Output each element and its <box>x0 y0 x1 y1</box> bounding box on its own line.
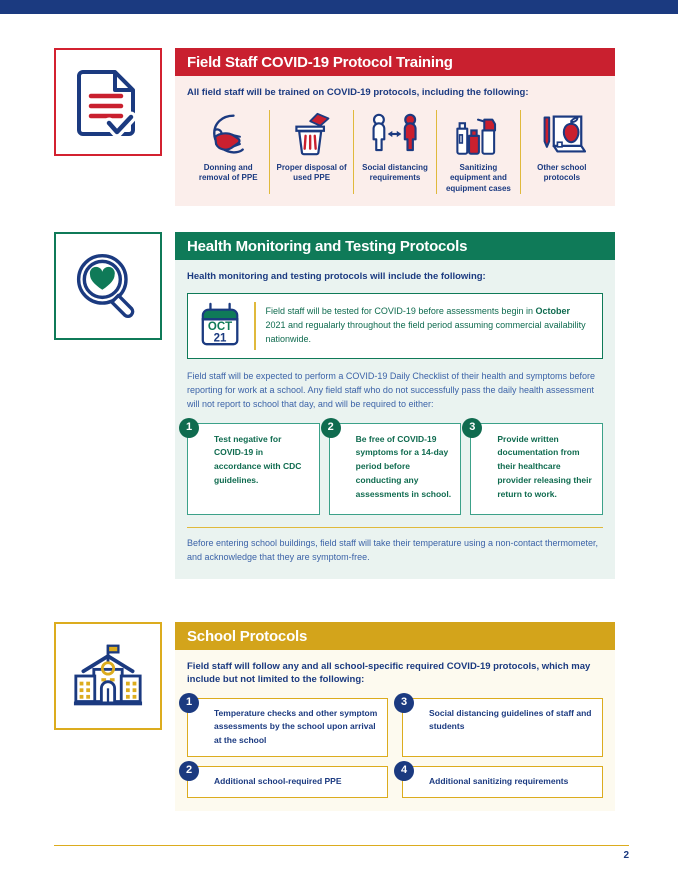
section-field-staff-covid-19-protocol-training: Field Staff COVID-19 Protocol Training A… <box>175 48 615 206</box>
calendar-day-label: 21 <box>214 332 227 344</box>
school-book-apple-icon <box>523 110 601 156</box>
page-top-bar <box>0 0 678 14</box>
school-protocol-box: 1 Temperature checks and other symptom a… <box>187 698 388 757</box>
heart-magnifier-icon <box>72 250 144 322</box>
section-divider <box>187 527 603 528</box>
trash-disposal-icon <box>272 110 350 156</box>
section-title: Field Staff COVID-19 Protocol Training <box>187 55 453 70</box>
school-protocol-box: 2 Additional school-required PPE <box>187 766 388 798</box>
callout-text-bold: October <box>535 306 570 316</box>
protocol-icon-row: Donning and removal of PPE Proper dispos… <box>187 110 603 194</box>
requirement-number-badge: 1 <box>179 418 199 438</box>
callout-divider <box>254 302 256 350</box>
protocol-item-caption: Donning and removal of PPE <box>189 163 267 184</box>
school-building-icon <box>70 641 146 711</box>
page-number: 2 <box>623 850 629 861</box>
section-intro-text: Field staff will follow any and all scho… <box>187 661 603 687</box>
calendar-month-label: OCT <box>208 321 232 333</box>
school-protocol-number-badge: 4 <box>394 761 414 781</box>
footer-divider <box>54 845 629 846</box>
callout-text-after: 2021 and regualarly throughout the field… <box>266 320 586 344</box>
protocol-item-caption: Other school protocols <box>523 163 601 184</box>
section-header: Health Monitoring and Testing Protocols <box>175 232 615 260</box>
requirement-text: Be free of COVID-19 symptoms for a 14-da… <box>356 433 453 502</box>
requirement-number-badge: 3 <box>462 418 482 438</box>
section-paragraph: Field staff will be expected to perform … <box>187 370 603 412</box>
protocol-item-caption: Social distancing requirements <box>356 163 434 184</box>
section-intro-text: Health monitoring and testing protocols … <box>187 271 603 284</box>
protocol-item-caption: Sanitizing equipment and equipment cases <box>439 163 517 194</box>
school-protocol-text: Additional sanitizing requirements <box>429 775 568 789</box>
badge-document-check <box>54 48 162 156</box>
requirement-box: 1 Test negative for COVID-19 in accordan… <box>187 423 320 515</box>
badge-school-building <box>54 622 162 730</box>
calendar-icon: OCT 21 <box>198 302 254 350</box>
section-header: Field Staff COVID-19 Protocol Training <box>175 48 615 76</box>
requirement-number-badge: 2 <box>321 418 341 438</box>
section-school-protocols: School Protocols Field staff will follow… <box>175 622 615 811</box>
social-distancing-icon <box>356 110 434 156</box>
protocol-item-ppe: Donning and removal of PPE <box>187 110 269 194</box>
protocol-item-sanitizing: Sanitizing equipment and equipment cases <box>436 110 519 194</box>
school-protocol-box: 4 Additional sanitizing requirements <box>402 766 603 798</box>
school-protocol-number-badge: 2 <box>179 761 199 781</box>
callout-text: Field staff will be tested for COVID-19 … <box>266 305 593 347</box>
section-footnote: Before entering school buildings, field … <box>187 537 603 565</box>
protocol-item-other-school: Other school protocols <box>520 110 603 194</box>
section-body: Health monitoring and testing protocols … <box>175 260 615 579</box>
protocol-item-distancing: Social distancing requirements <box>353 110 436 194</box>
requirement-boxes: 1 Test negative for COVID-19 in accordan… <box>187 423 603 515</box>
school-protocol-boxes: 1 Temperature checks and other symptom a… <box>187 698 603 798</box>
section-title: School Protocols <box>187 629 307 644</box>
protocol-item-disposal: Proper disposal of used PPE <box>269 110 352 194</box>
ppe-mask-face-icon <box>189 110 267 156</box>
requirement-box: 2 Be free of COVID-19 symptoms for a 14-… <box>329 423 462 515</box>
protocol-item-caption: Proper disposal of used PPE <box>272 163 350 184</box>
badge-heart-magnifier <box>54 232 162 340</box>
section-title: Health Monitoring and Testing Protocols <box>187 239 467 254</box>
section-health-monitoring-and-testing-protocols: Health Monitoring and Testing Protocols … <box>175 232 615 579</box>
school-protocol-text: Additional school-required PPE <box>214 775 342 789</box>
school-protocol-number-badge: 3 <box>394 693 414 713</box>
school-protocol-box: 3 Social distancing guidelines of staff … <box>402 698 603 757</box>
requirement-text: Test negative for COVID-19 in accordance… <box>214 433 311 488</box>
sanitizing-bottles-icon <box>439 110 517 156</box>
section-intro-text: All field staff will be trained on COVID… <box>187 87 603 100</box>
document-check-icon <box>75 66 141 138</box>
school-protocol-number-badge: 1 <box>179 693 199 713</box>
requirement-box: 3 Provide written documentation from the… <box>470 423 603 515</box>
section-body: All field staff will be trained on COVID… <box>175 76 615 206</box>
section-header: School Protocols <box>175 622 615 650</box>
testing-callout: OCT 21 Field staff will be tested for CO… <box>187 293 603 359</box>
callout-text-before: Field staff will be tested for COVID-19 … <box>266 306 536 316</box>
school-protocol-text: Social distancing guidelines of staff an… <box>429 707 594 735</box>
school-protocol-text: Temperature checks and other symptom ass… <box>214 707 379 748</box>
requirement-text: Provide written documentation from their… <box>497 433 594 502</box>
section-body: Field staff will follow any and all scho… <box>175 650 615 811</box>
